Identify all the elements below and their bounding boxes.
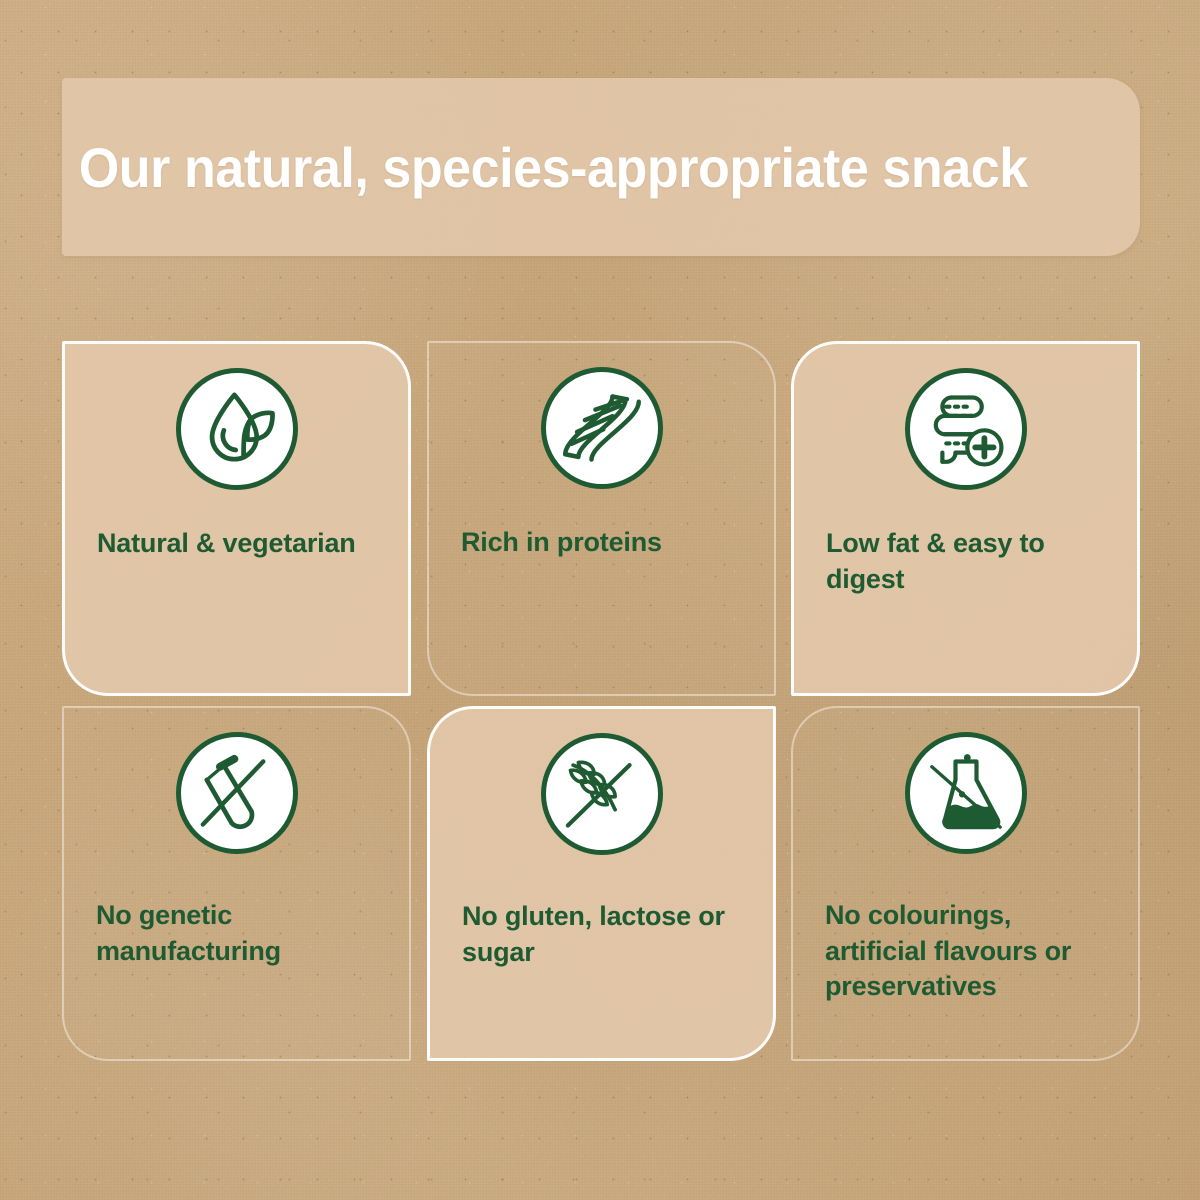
feature-label: Rich in proteins (461, 525, 754, 561)
feature-card-rich-in-proteins[interactable]: Rich in proteins (427, 341, 776, 696)
feature-card-natural-vegetarian[interactable]: Natural & vegetarian (62, 341, 411, 696)
feature-card-no-gluten-lactose-sugar[interactable]: No gluten, lactose or sugar (427, 706, 776, 1061)
feature-label: No gluten, lactose or sugar (462, 899, 753, 970)
feature-label: No genetic manufacturing (96, 898, 389, 969)
title-banner: Our natural, species-appropriate snack (62, 78, 1140, 256)
no-flask-icon (905, 732, 1027, 854)
water-drop-leaf-icon (176, 368, 298, 490)
feature-label: Low fat & easy to digest (826, 526, 1117, 597)
no-test-tube-icon (176, 732, 298, 854)
intestine-plus-icon (905, 368, 1027, 490)
feature-card-no-genetic-manufacturing[interactable]: No genetic manufacturing (62, 706, 411, 1061)
feature-label: No colourings, artificial flavours or pr… (825, 898, 1118, 1005)
dna-helix-icon (541, 367, 663, 489)
feature-grid: Natural & vegetarian Rich in proteins (62, 341, 1140, 1057)
feature-card-low-fat-easy-digest[interactable]: Low fat & easy to digest (791, 341, 1140, 696)
feature-card-no-colourings-flavours-preservatives[interactable]: No colourings, artificial flavours or pr… (791, 706, 1140, 1061)
feature-label: Natural & vegetarian (97, 526, 388, 562)
no-wheat-icon (541, 733, 663, 855)
page-title: Our natural, species-appropriate snack (62, 135, 1028, 200)
